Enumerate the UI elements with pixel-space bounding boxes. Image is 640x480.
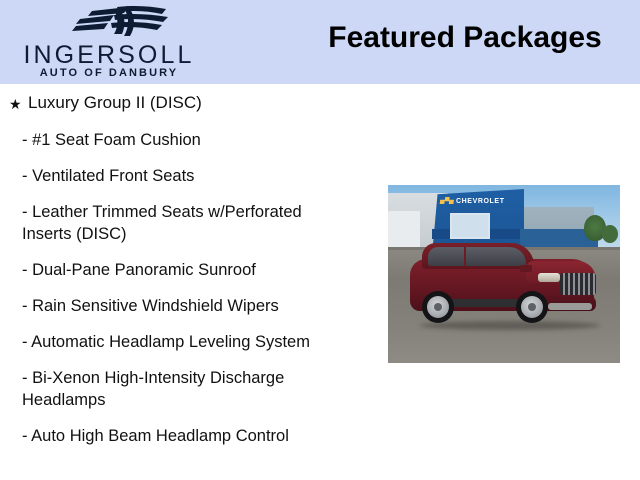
list-item-label: - Dual-Pane Panoramic Sunroof <box>22 259 348 281</box>
list-item-label: - Bi-Xenon High-Intensity Discharge Head… <box>22 367 348 411</box>
jeep-seven-slot-grille <box>560 273 596 295</box>
list-item: - #1 Seat Foam Cushion <box>0 115 380 151</box>
list-item-label: - #1 Seat Foam Cushion <box>22 129 348 151</box>
star-bullet-icon: ★ <box>9 93 22 115</box>
vehicle-photo-canvas: CHEVROLET <box>388 185 620 363</box>
list-item: - Leather Trimmed Seats w/Perforated Ins… <box>0 187 380 245</box>
slide-body: ★ Luxury Group II (DISC) - #1 Seat Foam … <box>0 84 640 480</box>
car-rear-wheel <box>422 291 454 323</box>
dealership-entrance <box>450 213 490 239</box>
car-side-mirror <box>520 265 532 272</box>
vehicle-photo: CHEVROLET <box>388 185 620 363</box>
car-front-rim <box>521 296 543 318</box>
dealer-name: INGERSOLL <box>0 42 218 69</box>
car-b-pillar <box>464 247 466 266</box>
page-title: Featured Packages <box>300 20 630 56</box>
list-item-label: - Auto High Beam Headlamp Control <box>22 425 348 447</box>
list-item-label: - Rain Sensitive Windshield Wipers <box>22 295 348 317</box>
car-bumper-trim <box>548 303 592 310</box>
list-item: - Auto High Beam Headlamp Control <box>0 411 380 447</box>
car-shadow <box>420 321 600 330</box>
list-item: - Dual-Pane Panoramic Sunroof <box>0 245 380 281</box>
list-item: - Bi-Xenon High-Intensity Discharge Head… <box>0 353 380 411</box>
list-item: ★ Luxury Group II (DISC) <box>0 84 380 115</box>
list-item-label: - Automatic Headlamp Leveling System <box>22 331 348 353</box>
list-item: - Automatic Headlamp Leveling System <box>0 317 380 353</box>
car-headlight <box>538 273 560 282</box>
dealership-sign-text: CHEVROLET <box>456 198 505 205</box>
list-item-label: - Leather Trimmed Seats w/Perforated Ins… <box>22 201 348 245</box>
features-list: ★ Luxury Group II (DISC) - #1 Seat Foam … <box>0 84 380 447</box>
dealer-tagline: AUTO OF DANBURY <box>0 67 218 79</box>
car-windows <box>428 247 526 266</box>
dealer-brand-block: INGERSOLL AUTO OF DANBURY <box>0 0 230 84</box>
list-item: - Rain Sensitive Windshield Wipers <box>0 281 380 317</box>
tree <box>602 225 618 243</box>
list-item: - Ventilated Front Seats <box>0 151 380 187</box>
jeep-grand-cherokee <box>408 237 598 329</box>
car-rear-rim <box>427 296 449 318</box>
list-item-label: Luxury Group II (DISC) <box>28 92 380 114</box>
ingersoll-wing-logo-icon <box>62 5 182 38</box>
car-front-wheel <box>516 291 548 323</box>
list-item-label: - Ventilated Front Seats <box>22 165 348 187</box>
slide-header: INGERSOLL AUTO OF DANBURY Featured Packa… <box>0 0 640 84</box>
